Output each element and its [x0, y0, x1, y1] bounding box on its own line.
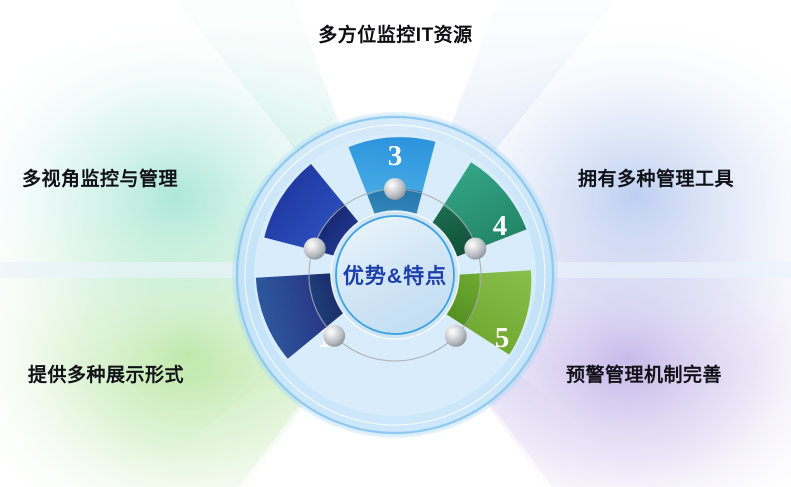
diagram-canvas: 1 2 3 4 5	[0, 0, 791, 487]
center-label: 优势&特点	[343, 264, 447, 288]
circular-diagram: 1 2 3 4 5	[232, 112, 558, 438]
marker-3[interactable]	[384, 178, 406, 200]
segment-3-number: 3	[388, 140, 403, 172]
label-right-top: 拥有多种管理工具	[578, 170, 734, 189]
marker-4[interactable]	[464, 238, 486, 260]
segment-5-number: 5	[495, 322, 510, 354]
marker-1[interactable]	[323, 325, 345, 347]
marker-5[interactable]	[445, 325, 467, 347]
label-left-bottom: 提供多种展示形式	[28, 366, 184, 385]
marker-2[interactable]	[304, 238, 326, 260]
segment-4-number: 4	[493, 210, 508, 242]
label-top: 多方位监控IT资源	[0, 26, 791, 45]
label-left-top: 多视角监控与管理	[22, 170, 178, 189]
label-right-bottom: 预警管理机制完善	[566, 366, 722, 385]
